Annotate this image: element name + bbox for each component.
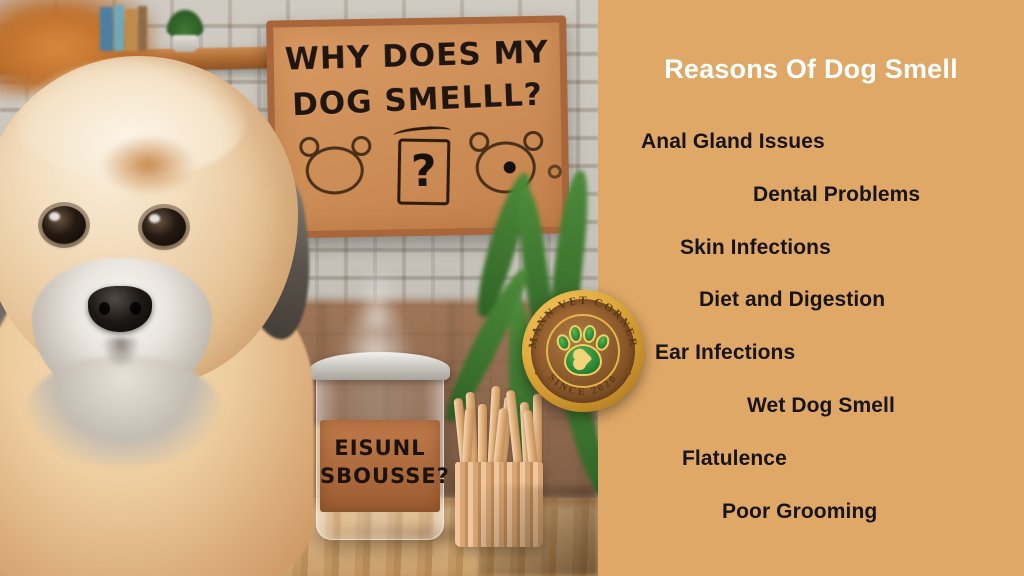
jar-lid [310, 352, 450, 380]
jar-label-line-2: SBOUSSE? [320, 464, 440, 488]
mann-vet-corner-logo: MANN VET CORNER SINCE 2020 [522, 290, 644, 412]
reason-item-5: Ear Infections [655, 341, 795, 365]
shih-tzu-dog [0, 36, 324, 576]
doodle-question-mark-icon: ? [397, 140, 450, 207]
reason-item-2: Dental Problems [753, 183, 920, 207]
plant-leaves-icon [165, 8, 205, 38]
reason-item-7: Flatulence [682, 447, 787, 471]
dog-beard-fur [26, 356, 222, 466]
doodle-dog-ear-icon [523, 131, 543, 151]
eye-highlight [149, 214, 160, 223]
page-title: Reasons Of Dog Smell [598, 54, 1024, 85]
reason-item-4: Diet and Digestion [699, 288, 885, 312]
dog-eye-left [42, 206, 86, 244]
dog-nostril-right [130, 302, 141, 315]
reason-item-1: Anal Gland Issues [641, 130, 825, 154]
infographic-root: WHY DOES MY DOG SMELLL? ? [0, 0, 1024, 576]
dog-brow-marking [100, 134, 196, 196]
dog-mouth [102, 338, 140, 368]
dog-eye-right [142, 208, 186, 246]
dog-nostril-left [99, 302, 110, 315]
paw-print-icon [554, 322, 612, 380]
dog-photo: WHY DOES MY DOG SMELLL? ? [0, 0, 598, 576]
eye-highlight [49, 212, 60, 221]
reason-item-6: Wet Dog Smell [747, 394, 895, 418]
corner-vignette [478, 486, 598, 576]
jar-label-line-1: EISUNL [320, 436, 440, 460]
reasons-panel: Reasons Of Dog Smell Anal Gland IssuesDe… [598, 0, 1024, 576]
jar-label: EISUNL SBOUSSE? [320, 420, 440, 512]
doodle-dog-ear-icon [351, 136, 371, 156]
reason-item-8: Poor Grooming [722, 500, 877, 524]
reason-item-3: Skin Infections [680, 236, 831, 260]
